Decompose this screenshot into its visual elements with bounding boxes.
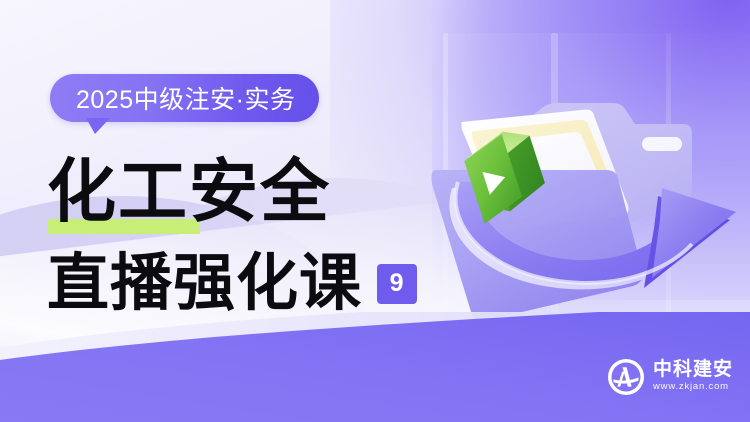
text-block: 2025中级注安·实务 化工安全 直播强化课 9	[0, 0, 470, 422]
course-promo-banner: 2025中级注安·实务 化工安全 直播强化课 9 中科建安 www.zkjan.…	[0, 0, 750, 422]
circle-person-logo-icon	[607, 358, 645, 396]
status-badge-tail	[86, 118, 110, 134]
page-title-line-2: 直播强化课 9	[47, 253, 417, 315]
page-title-line-1: 化工安全	[47, 158, 331, 227]
illustration-group	[430, 20, 750, 350]
brand-name: 中科建安	[653, 360, 733, 380]
brand-logo: 中科建安 www.zkjan.com	[607, 358, 733, 396]
page-title-line-2-text: 直播强化课	[47, 253, 362, 315]
status-badge-label: 2025中级注安·实务	[76, 80, 295, 116]
episode-number-badge: 9	[377, 264, 417, 304]
brand-logo-text: 中科建安 www.zkjan.com	[653, 360, 733, 393]
status-badge: 2025中级注安·实务	[50, 74, 319, 122]
brand-url: www.zkjan.com	[653, 380, 733, 393]
